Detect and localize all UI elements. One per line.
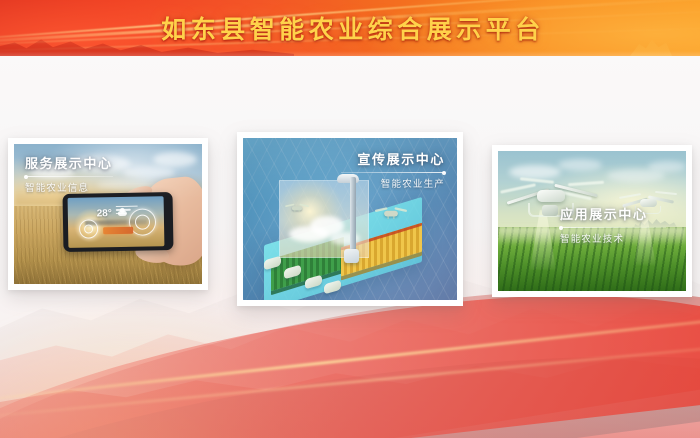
title-divider-rule bbox=[25, 176, 113, 177]
card-promo-image: 宣传展示中心 智能农业生产 bbox=[243, 138, 457, 300]
card-subtitle: 智能农业信息 bbox=[25, 180, 113, 194]
showcase-card-app[interactable]: 应用展示中心 智能农业技术 bbox=[492, 145, 692, 297]
card-subtitle: 智能农业技术 bbox=[560, 231, 666, 245]
card-promo-label: 宣传展示中心 智能农业生产 bbox=[341, 152, 445, 190]
card-title: 服务展示中心 bbox=[25, 156, 113, 172]
card-service-label: 服务展示中心 智能农业信息 bbox=[25, 156, 113, 194]
card-title: 宣传展示中心 bbox=[341, 152, 445, 168]
card-subtitle: 智能农业生产 bbox=[341, 176, 445, 190]
platform-showcase-page: 如东县智能农业综合展示平台 bbox=[0, 0, 700, 438]
title-divider-rule bbox=[560, 227, 666, 228]
showcase-card-promo[interactable]: 宣传展示中心 智能农业生产 bbox=[237, 132, 463, 306]
title-divider-rule bbox=[341, 172, 445, 173]
card-app-image: 应用展示中心 智能农业技术 bbox=[498, 151, 686, 291]
header-banner: 如东县智能农业综合展示平台 bbox=[0, 0, 700, 56]
card-app-label: 应用展示中心 智能农业技术 bbox=[560, 207, 666, 245]
card-service-image: 28° 服务展示中心 智能农业信息 bbox=[14, 144, 202, 284]
showcase-card-service[interactable]: 28° 服务展示中心 智能农业信息 bbox=[8, 138, 208, 290]
page-title: 如东县智能农业综合展示平台 bbox=[0, 0, 700, 56]
card-title: 应用展示中心 bbox=[560, 207, 666, 223]
background-warm-glow bbox=[0, 298, 385, 438]
